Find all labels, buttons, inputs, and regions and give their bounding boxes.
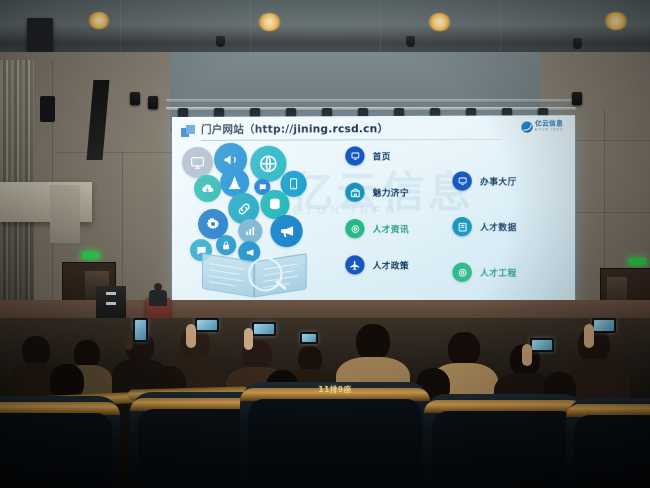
- smartphone: [300, 332, 318, 344]
- stage-light: [572, 92, 582, 105]
- rack-panel: [106, 302, 116, 305]
- raised-arm: [244, 328, 253, 350]
- raised-arm: [186, 324, 196, 348]
- lighting-truss: [166, 99, 576, 102]
- foreground-chair: [566, 398, 650, 488]
- slide-menu-column-2: 办事大厅 人才数据 人才工程: [452, 171, 516, 299]
- service-hall-icon: [452, 171, 471, 190]
- slide-title: 门户网站（http://jining.rcsd.cn）: [201, 121, 388, 137]
- menu-label: 人才资讯: [373, 223, 409, 235]
- foreground-chair: [0, 396, 120, 488]
- brand-logo: 亿云信息 EYUN INFO: [522, 121, 564, 132]
- menu-item-talent-data[interactable]: 人才数据: [452, 217, 516, 236]
- project-gear-icon: [452, 263, 471, 282]
- smartphone: [530, 338, 554, 352]
- stage-light: [148, 96, 158, 109]
- ceiling-spotlight: [406, 36, 415, 47]
- smartphone: [195, 318, 219, 332]
- plane-icon: [345, 255, 364, 274]
- wall-seam: [568, 140, 650, 141]
- foreground-chair: [424, 394, 584, 488]
- wall-seam: [56, 152, 180, 153]
- exit-sign-icon: [82, 252, 99, 259]
- menu-item-home[interactable]: 首页: [345, 146, 409, 165]
- presenter: [149, 283, 167, 305]
- open-book-graphic: [202, 251, 307, 295]
- header-divider: [201, 139, 502, 141]
- foreground-chair-center: 11排9座: [240, 382, 430, 488]
- presenter-body: [149, 290, 167, 306]
- slide-header: 门户网站（http://jining.rcsd.cn） 亿云信息 EYUN IN…: [181, 120, 566, 142]
- lighting-truss: [166, 107, 576, 110]
- wall-seam: [568, 212, 650, 213]
- menu-item-talent-project[interactable]: 人才工程: [452, 263, 516, 282]
- ceiling-speaker: [27, 18, 53, 52]
- smartphone: [252, 322, 276, 336]
- menu-label: 首页: [373, 150, 391, 162]
- cloud-download-icon: [194, 175, 221, 202]
- projection-screen: 门户网站（http://jining.rcsd.cn） 亿云信息 EYUN IN…: [172, 115, 575, 315]
- raised-arm: [584, 324, 594, 348]
- globe-icon: [250, 146, 286, 182]
- menu-label: 人才数据: [480, 221, 517, 233]
- book-page-left: [202, 253, 254, 297]
- slide-menu-column-1: 首页 魅力济宁 人才资讯: [345, 146, 409, 292]
- smartphone: [592, 318, 616, 333]
- bullhorn-icon: [270, 215, 302, 247]
- seat-tag-center: 11排9座: [318, 384, 351, 395]
- exit-sign-icon: [629, 258, 646, 265]
- auditorium-photo: 门户网站（http://jining.rcsd.cn） 亿云信息 EYUN IN…: [0, 0, 650, 488]
- ceiling-spotlight: [573, 38, 582, 49]
- menu-item-talent-news[interactable]: 人才资讯: [345, 219, 409, 238]
- icon-bubble-cluster: [176, 142, 345, 293]
- ceiling-downlight: [88, 12, 110, 29]
- menu-item-service-hall[interactable]: 办事大厅: [452, 171, 516, 190]
- city-icon: [345, 183, 364, 202]
- slide-bullet-icon: [181, 125, 196, 138]
- bar-chart-icon: [238, 219, 262, 243]
- home-monitor-icon: [345, 146, 364, 165]
- menu-item-talent-policy[interactable]: 人才政策: [345, 255, 409, 274]
- brand-mark-icon: [522, 121, 533, 132]
- menu-label: 人才政策: [373, 259, 409, 271]
- rack-panel: [106, 292, 116, 295]
- menu-label: 人才工程: [480, 266, 517, 278]
- av-equipment-rack: [96, 286, 126, 320]
- ceiling-downlight: [258, 13, 281, 31]
- data-icon: [452, 217, 471, 236]
- smartphone: [133, 318, 148, 342]
- line-array-speaker: [40, 96, 55, 122]
- wall-column: [50, 185, 80, 243]
- menu-label: 魅力济宁: [373, 186, 409, 198]
- stage-light: [130, 92, 140, 105]
- raised-arm: [522, 344, 532, 366]
- monitor-icon: [182, 147, 213, 178]
- menu-label: 办事大厅: [480, 175, 517, 187]
- news-globe-icon: [345, 219, 364, 238]
- audience-area: 11排10座 11排9座: [0, 318, 650, 488]
- ceiling-spotlight: [216, 36, 225, 47]
- ceiling-downlight: [428, 13, 451, 31]
- brand-name-en: EYUN INFO: [535, 128, 564, 132]
- menu-item-charm-jining[interactable]: 魅力济宁: [345, 183, 409, 202]
- ceiling-downlight: [604, 12, 628, 30]
- raised-arm: [124, 328, 133, 350]
- magnifier-icon: [248, 257, 282, 291]
